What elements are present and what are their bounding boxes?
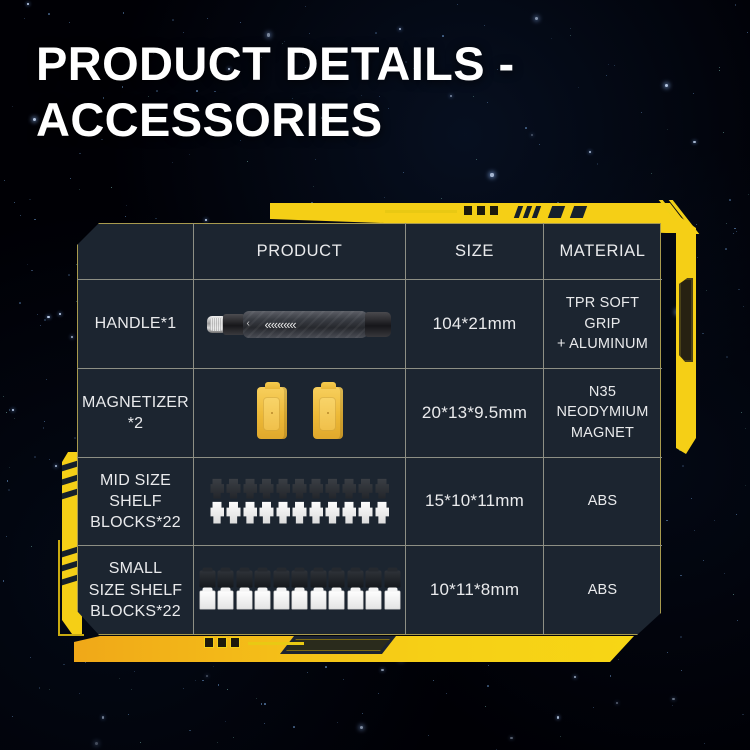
shelf-block — [199, 571, 215, 588]
shelf-block — [273, 591, 289, 610]
shelf-block — [255, 591, 271, 610]
shelf-block — [366, 591, 382, 610]
col-header-material: MATERIAL — [544, 224, 662, 280]
bottom-thin-line — [248, 642, 304, 645]
shelf-block — [366, 571, 382, 588]
bottom-chiclet-markers — [204, 637, 240, 648]
shelf-block — [310, 591, 326, 610]
shelf-block — [260, 502, 274, 524]
shelf-block — [255, 571, 271, 588]
product-image-mid-blocks — [194, 457, 406, 546]
row-material-small-blocks: ABS — [544, 546, 662, 635]
col-header-blank — [78, 224, 194, 280]
shelf-block — [227, 479, 241, 499]
row-size-magnetizer: 20*13*9.5mm — [406, 368, 544, 457]
col-header-size: SIZE — [406, 224, 544, 280]
shelf-block — [326, 479, 340, 499]
row-name-small-blocks: SMALLSIZE SHELFBLOCKS*22 — [78, 546, 194, 635]
shelf-block — [309, 502, 323, 524]
shelf-block — [236, 591, 252, 610]
row-name-mid-blocks: MID SIZESHELFBLOCKS*22 — [78, 457, 194, 546]
table-row: SMALLSIZE SHELFBLOCKS*22 10*11*8mm ABS — [78, 546, 662, 635]
row-name-handle: HANDLE*1 — [78, 280, 194, 369]
row-material-magnetizer: N35NEODYMIUMMAGNET — [544, 368, 662, 457]
top-accent-bar-slashes — [516, 206, 656, 220]
spec-panel: PRODUCT SIZE MATERIAL HANDLE*1 — [77, 223, 661, 635]
shelf-block — [342, 502, 356, 524]
right-accent-bar-notch — [679, 278, 693, 362]
shelf-block — [199, 591, 215, 610]
shelf-block — [236, 571, 252, 588]
shelf-block — [329, 571, 345, 588]
top-chiclet-markers — [463, 205, 499, 216]
shelf-block — [276, 479, 290, 499]
row-name-magnetizer: MAGNETIZER *2 — [78, 368, 194, 457]
shelf-block — [260, 479, 274, 499]
shelf-block — [276, 502, 290, 524]
shelf-block — [243, 479, 257, 499]
product-image-magnetizer — [194, 368, 406, 457]
shelf-block — [347, 571, 363, 588]
shelf-block — [359, 479, 373, 499]
screwdriver-handle-icon: ‹ ««««« — [207, 309, 393, 339]
handle-chevrons: ««««« — [265, 318, 296, 331]
table-row: MAGNETIZER *2 20*13*9.5mm N35NEODYMIUMMA… — [78, 368, 662, 457]
row-size-mid-blocks: 15*10*11mm — [406, 457, 544, 546]
shelf-block — [243, 502, 257, 524]
table-header-row: PRODUCT SIZE MATERIAL — [78, 224, 662, 280]
infographic-canvas: PRODUCT DETAILS -ACCESSORIES — [0, 0, 750, 750]
shelf-block — [273, 571, 289, 588]
shelf-block — [342, 479, 356, 499]
shelf-block — [292, 571, 308, 588]
row-material-handle: TPR SOFT GRIP+ ALUMINUM — [544, 280, 662, 369]
product-image-handle: ‹ ««««« — [194, 280, 406, 369]
shelf-block — [375, 502, 389, 524]
table-row: MID SIZESHELFBLOCKS*22 15*10*11mm ABS — [78, 457, 662, 546]
shelf-block — [309, 479, 323, 499]
magnetizer-blocks-icon — [257, 387, 343, 439]
shelf-block — [293, 502, 307, 524]
mid-shelf-blocks-icon — [210, 479, 389, 524]
shelf-block — [292, 591, 308, 610]
shelf-block — [218, 591, 234, 610]
shelf-block — [347, 591, 363, 610]
shelf-block — [384, 591, 400, 610]
product-image-small-blocks — [194, 546, 406, 635]
shelf-block — [384, 571, 400, 588]
shelf-block — [329, 591, 345, 610]
shelf-block — [359, 502, 373, 524]
page-title: PRODUCT DETAILS -ACCESSORIES — [36, 36, 656, 148]
bottom-accent-bar-notch-inner — [286, 639, 390, 651]
top-thin-line — [385, 210, 457, 213]
small-shelf-blocks-icon — [199, 571, 400, 610]
col-header-product: PRODUCT — [194, 224, 406, 280]
row-size-small-blocks: 10*11*8mm — [406, 546, 544, 635]
shelf-block — [210, 502, 224, 524]
shelf-block — [375, 479, 389, 499]
shelf-block — [210, 479, 224, 499]
table-row: HANDLE*1 ‹ ««««« — [78, 280, 662, 369]
shelf-block — [227, 502, 241, 524]
shelf-block — [326, 502, 340, 524]
accessories-spec-table: PRODUCT SIZE MATERIAL HANDLE*1 — [77, 223, 662, 635]
row-size-handle: 104*21mm — [406, 280, 544, 369]
shelf-block — [293, 479, 307, 499]
row-material-mid-blocks: ABS — [544, 457, 662, 546]
shelf-block — [310, 571, 326, 588]
shelf-block — [218, 571, 234, 588]
